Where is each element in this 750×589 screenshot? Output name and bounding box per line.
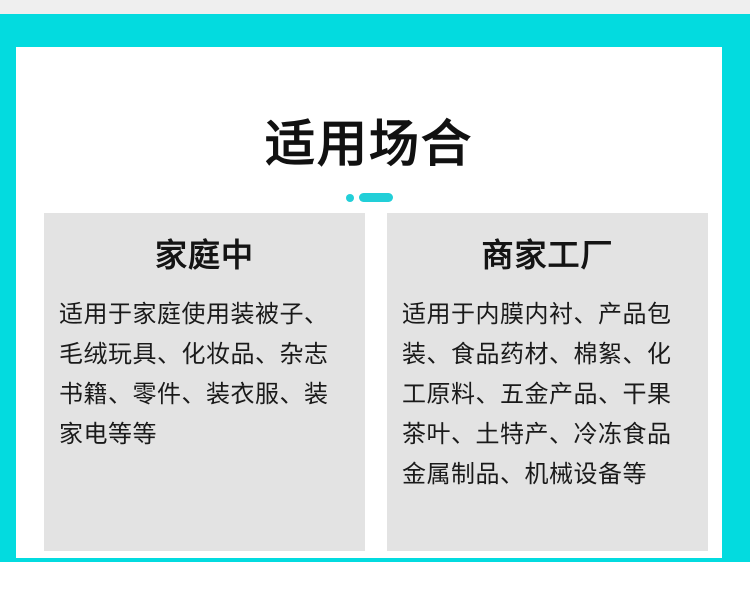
cyan-frame-border: 适用场合 家庭中 适用于家庭使用装被子、毛绒玩具、化妆品、杂志书籍、零件、装衣服…: [0, 14, 750, 562]
card-body-home: 适用于家庭使用装被子、毛绒玩具、化妆品、杂志书籍、零件、装衣服、装家电等等: [59, 295, 350, 455]
accent-bar-icon: [359, 193, 393, 202]
scenario-card-home: 家庭中 适用于家庭使用装被子、毛绒玩具、化妆品、杂志书籍、零件、装衣服、装家电等…: [44, 213, 365, 551]
scenario-cards-row: 家庭中 适用于家庭使用装被子、毛绒玩具、化妆品、杂志书籍、零件、装衣服、装家电等…: [44, 213, 708, 551]
top-gray-strip: [0, 0, 750, 14]
content-panel: 适用场合 家庭中 适用于家庭使用装被子、毛绒玩具、化妆品、杂志书籍、零件、装衣服…: [16, 47, 722, 558]
bottom-white-strip: [0, 562, 750, 589]
page-title: 适用场合: [16, 119, 722, 169]
card-body-business: 适用于内膜内衬、产品包装、食品药材、棉絮、化工原料、五金产品、干果茶叶、土特产、…: [402, 295, 693, 495]
scenario-card-business: 商家工厂 适用于内膜内衬、产品包装、食品药材、棉絮、化工原料、五金产品、干果茶叶…: [387, 213, 708, 551]
card-title-business: 商家工厂: [402, 235, 693, 275]
accent-dot-icon: [346, 194, 354, 202]
title-accent-decoration: [16, 193, 722, 202]
card-title-home: 家庭中: [59, 235, 350, 275]
